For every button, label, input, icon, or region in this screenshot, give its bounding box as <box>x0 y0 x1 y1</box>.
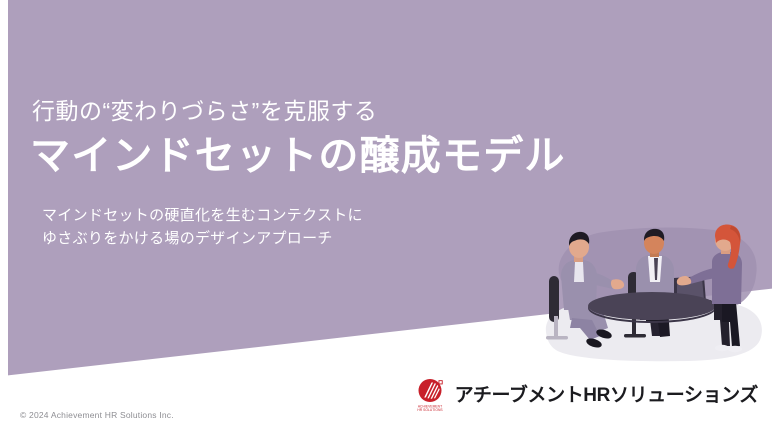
achievement-logo-icon: ACHIEVEMENT HR SOLUTIONS <box>416 377 446 413</box>
subtitle-line-2: ゆさぶりをかける場のデザインアプローチ <box>42 227 500 250</box>
eyebrow-text: 行動の“変わりづらさ”を克服する <box>32 96 500 126</box>
subtitle-line-1: マインドセットの硬直化を生むコンテクストに <box>42 204 500 227</box>
copyright-text: © 2024 Achievement HR Solutions Inc. <box>20 410 174 420</box>
presentation-slide: 行動の“変わりづらさ”を克服する マインドセットの醸成モデル マインドセットの硬… <box>0 0 772 434</box>
title-block: 行動の“変わりづらさ”を克服する マインドセットの醸成モデル マインドセットの硬… <box>30 96 500 250</box>
subtitle-block: マインドセットの硬直化を生むコンテクストに ゆさぶりをかける場のデザインアプロー… <box>42 204 500 250</box>
round-table <box>588 292 716 323</box>
logo-wordmark-text: アチーブメントHRソリューションズ <box>455 386 758 405</box>
meeting-illustration <box>528 224 772 364</box>
page-title: マインドセットの醸成モデル <box>30 132 500 180</box>
brand-logo-lockup: ACHIEVEMENT HR SOLUTIONS アチーブメントHRソリューショ… <box>416 377 758 413</box>
logo-submark-line-2: HR SOLUTIONS <box>417 408 443 412</box>
